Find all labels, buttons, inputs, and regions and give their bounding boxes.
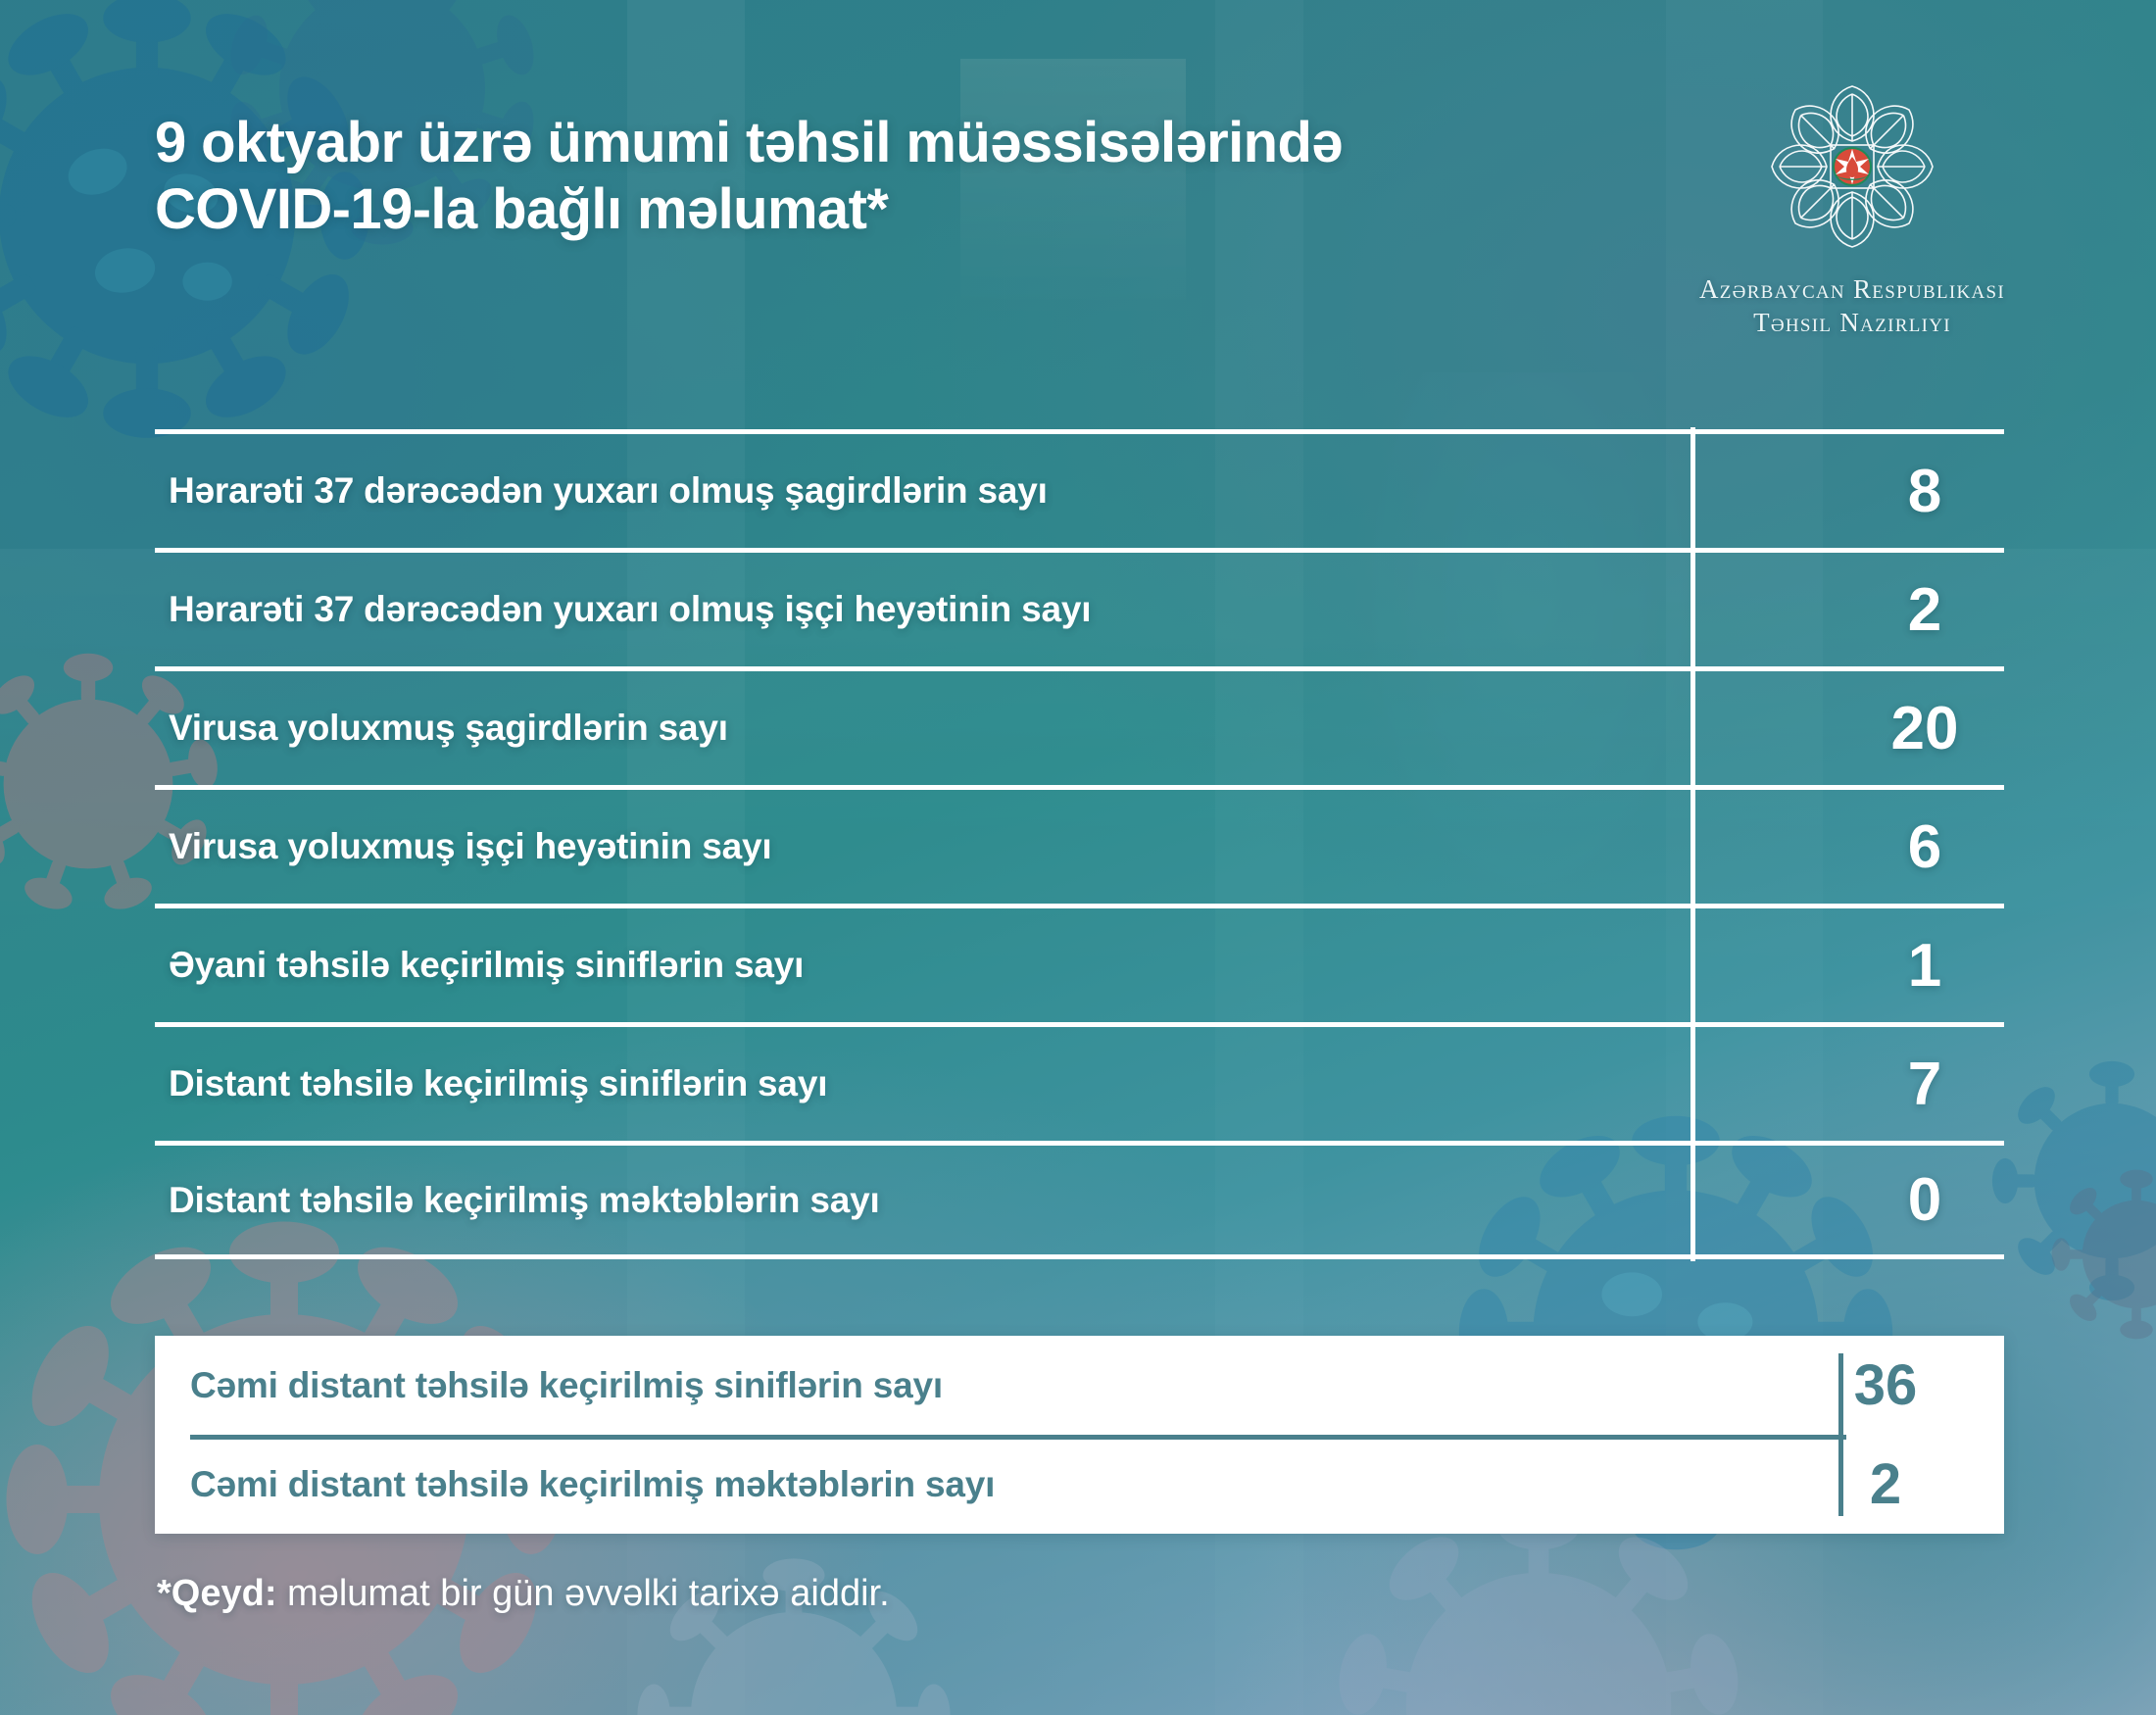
footnote-text: məlumat bir gün əvvəlki tarixə aiddir. xyxy=(276,1573,889,1614)
summary-column-divider xyxy=(1838,1353,1843,1516)
summary-row-label: Cəmi distant təhsilə keçirilmiş məktəblə… xyxy=(155,1464,1767,1505)
header: 9 oktyabr üzrə ümumi təhsil müəssisələri… xyxy=(155,110,1458,243)
summary-row-label: Cəmi distant təhsilə keçirilmiş siniflər… xyxy=(155,1365,1767,1406)
ministry-name: Azərbaycan Respublikası Təhsil Nazirliyi xyxy=(1699,272,2005,339)
table-row-label: Əyani təhsilə keçirilmiş siniflərin sayı xyxy=(155,945,1845,986)
table-row: Əyani təhsilə keçirilmiş siniflərin sayı… xyxy=(155,904,2004,1022)
table-row-label: Distant təhsilə keçirilmiş məktəblərin s… xyxy=(155,1180,1845,1221)
table-row: Virusa yoluxmuş şagirdlərin sayı 20 xyxy=(155,666,2004,785)
table-row: Distant təhsilə keçirilmiş siniflərin sa… xyxy=(155,1022,2004,1141)
table-row-label: Hərarəti 37 dərəcədən yuxarı olmuş şagir… xyxy=(155,470,1845,512)
table-row-value: 0 xyxy=(1845,1165,2004,1235)
ministry-rosette-emblem-icon xyxy=(1754,69,1950,265)
table-row-value: 2 xyxy=(1845,575,2004,645)
table-column-divider xyxy=(1690,427,1695,1261)
table-row-value: 6 xyxy=(1845,812,2004,882)
table-row: Hərarəti 37 dərəcədən yuxarı olmuş işçi … xyxy=(155,548,2004,666)
table-row-label: Virusa yoluxmuş şagirdlərin sayı xyxy=(155,708,1845,749)
summary-row-value: 2 xyxy=(1767,1451,2004,1517)
summary-row: Cəmi distant təhsilə keçirilmiş məktəblə… xyxy=(155,1435,2004,1534)
table-row-value: 20 xyxy=(1845,694,2004,763)
ministry-logo: Azərbaycan Respublikası Təhsil Nazirliyi xyxy=(1627,69,2078,339)
table-row-value: 1 xyxy=(1845,931,2004,1001)
table-row-value: 7 xyxy=(1845,1050,2004,1119)
stats-table: Hərarəti 37 dərəcədən yuxarı olmuş şagir… xyxy=(155,429,2004,1259)
ministry-name-line2: Təhsil Nazirliyi xyxy=(1699,306,2005,339)
summary-row-value: 36 xyxy=(1767,1352,2004,1418)
table-row: Distant təhsilə keçirilmiş məktəblərin s… xyxy=(155,1141,2004,1259)
table-row-label: Distant təhsilə keçirilmiş siniflərin sa… xyxy=(155,1063,1845,1104)
footnote: *Qeyd: məlumat bir gün əvvəlki tarixə ai… xyxy=(157,1573,890,1615)
table-row: Virusa yoluxmuş işçi heyətinin sayı 6 xyxy=(155,785,2004,904)
summary-row: Cəmi distant təhsilə keçirilmiş siniflər… xyxy=(155,1336,2004,1435)
page-title: 9 oktyabr üzrə ümumi təhsil müəssisələri… xyxy=(155,110,1458,243)
table-row-label: Virusa yoluxmuş işçi heyətinin sayı xyxy=(155,826,1845,867)
table-row-label: Hərarəti 37 dərəcədən yuxarı olmuş işçi … xyxy=(155,589,1845,630)
infographic-content: 9 oktyabr üzrə ümumi təhsil müəssisələri… xyxy=(0,0,2156,1715)
ministry-name-line1: Azərbaycan Respublikası xyxy=(1699,272,2005,306)
footnote-marker: *Qeyd: xyxy=(157,1573,276,1614)
table-row-value: 8 xyxy=(1845,457,2004,526)
table-row: Hərarəti 37 dərəcədən yuxarı olmuş şagir… xyxy=(155,429,2004,548)
summary-card: Cəmi distant təhsilə keçirilmiş siniflər… xyxy=(155,1336,2004,1534)
